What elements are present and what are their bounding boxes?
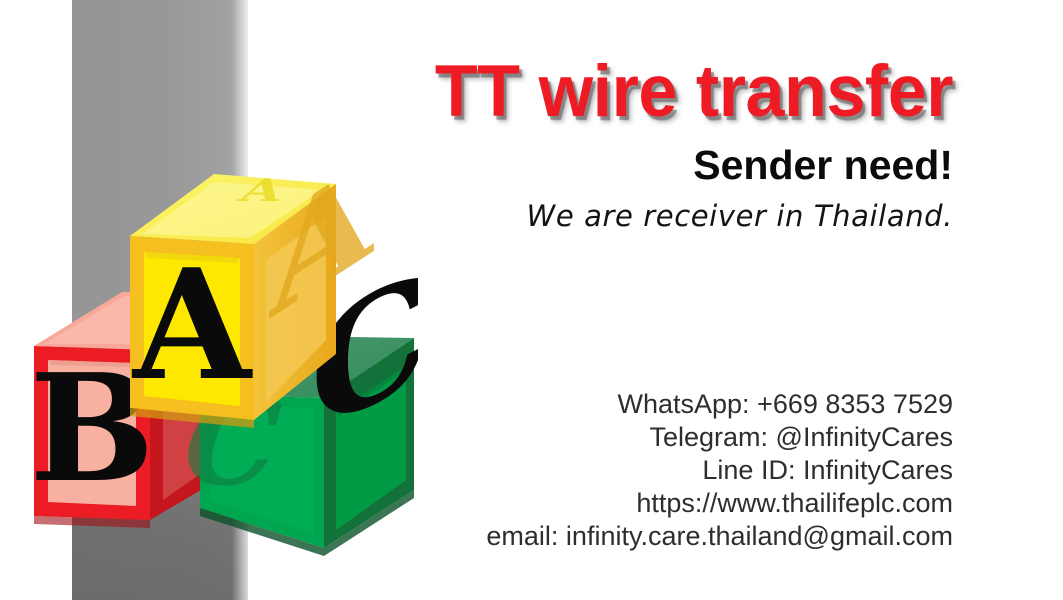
contact-line-email[interactable]: email: infinity.care.thailand@gmail.com bbox=[193, 520, 953, 553]
contact-info-block: WhatsApp: +669 8353 7529 Telegram: @Infi… bbox=[193, 388, 953, 553]
page-title: TT wire transfer bbox=[223, 56, 953, 128]
poster-canvas: B B C bbox=[0, 0, 1063, 600]
contact-line-lineid: Line ID: InfinityCares bbox=[193, 454, 953, 487]
contact-line-whatsapp: WhatsApp: +669 8353 7529 bbox=[193, 388, 953, 421]
tagline: We are receiver in Thailand. bbox=[193, 201, 953, 233]
headline-group: TT wire transfer Sender need! We are rec… bbox=[193, 56, 953, 232]
subtitle: Sender need! bbox=[193, 144, 953, 187]
contact-line-telegram: Telegram: @InfinityCares bbox=[193, 421, 953, 454]
contact-line-website[interactable]: https://www.thailifeplc.com bbox=[193, 487, 953, 520]
